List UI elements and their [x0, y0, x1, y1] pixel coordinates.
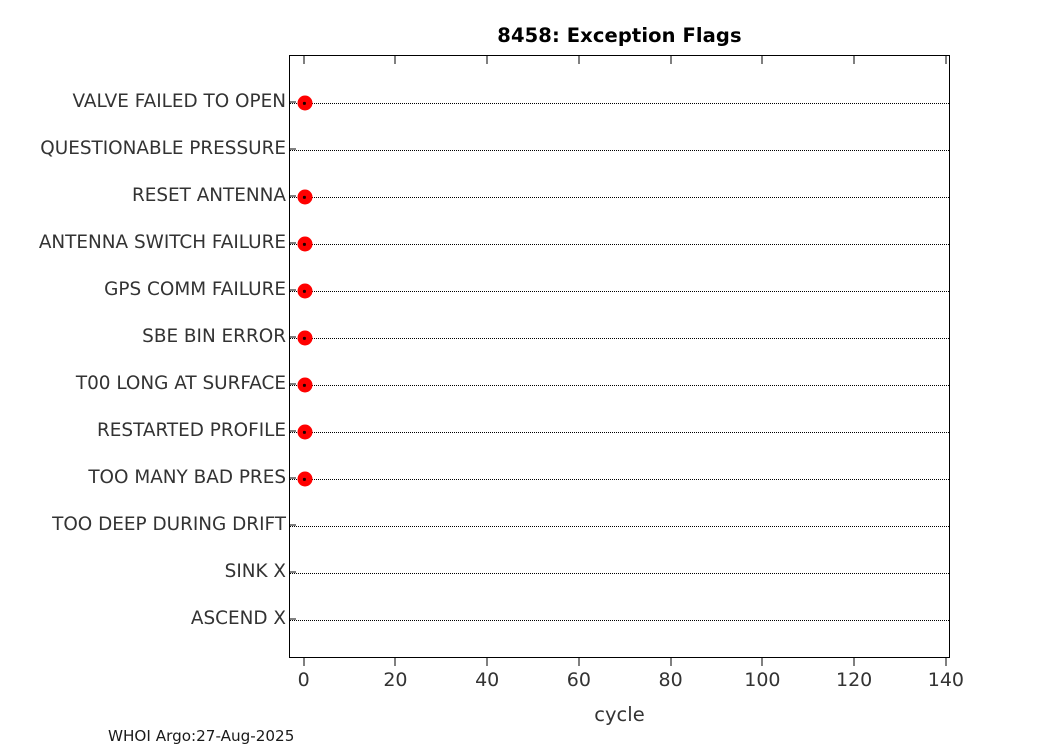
y-axis-tick-label: QUESTIONABLE PRESSURE [40, 140, 286, 158]
y-axis-tick-mark [289, 102, 296, 103]
x-axis-tick-label: 20 [383, 669, 407, 691]
data-point-marker [297, 331, 312, 346]
gridline [290, 338, 949, 339]
gridline [290, 620, 949, 621]
x-axis-tick-label: 100 [744, 669, 780, 691]
x-axis-tick-mark [395, 658, 396, 666]
y-axis-tick-label: GPS COMM FAILURE [104, 281, 286, 299]
y-axis-tick-mark [289, 572, 296, 573]
y-axis-tick-mark [289, 196, 296, 197]
gridline [290, 573, 949, 574]
y-axis-tick-mark [289, 243, 296, 244]
y-axis-tick-mark [289, 525, 296, 526]
y-axis-tick-label: ANTENNA SWITCH FAILURE [39, 234, 286, 252]
gridline [290, 385, 949, 386]
y-axis-tick-label: ASCEND X [191, 610, 286, 628]
x-axis-tick-label: 120 [836, 669, 872, 691]
x-axis-tick-label: 60 [567, 669, 591, 691]
x-axis-tick-label: 140 [928, 669, 964, 691]
y-axis-tick-mark [289, 478, 296, 479]
data-point-marker [297, 378, 312, 393]
x-axis-tick-label: 80 [659, 669, 683, 691]
footer-annotation: WHOI Argo:27-Aug-2025 [108, 727, 294, 745]
gridline [290, 103, 949, 104]
x-axis-tick-mark [670, 658, 671, 666]
x-axis-tick-label: 40 [475, 669, 499, 691]
y-axis-tick-label: TOO DEEP DURING DRIFT [52, 516, 286, 534]
data-point-marker [297, 284, 312, 299]
y-axis-tick-label: RESTARTED PROFILE [97, 422, 286, 440]
x-axis-tick-mark-top [395, 56, 396, 64]
gridline [290, 291, 949, 292]
y-axis-tick-mark [289, 431, 296, 432]
x-axis-tick-mark [945, 658, 946, 666]
y-axis-tick-label: SINK X [225, 563, 286, 581]
x-axis-tick-mark [854, 658, 855, 666]
gridline [290, 526, 949, 527]
y-axis-tick-label: VALVE FAILED TO OPEN [72, 93, 286, 111]
x-axis-tick-mark-top [854, 56, 855, 64]
y-axis-tick-mark [289, 384, 296, 385]
x-axis-tick-mark-top [303, 56, 304, 64]
page-title: 8458: Exception Flags [289, 24, 950, 47]
x-axis-tick-mark-top [578, 56, 579, 64]
gridline [290, 479, 949, 480]
x-axis-title: cycle [289, 703, 950, 726]
data-point-marker [297, 237, 312, 252]
y-axis-tick-label: RESET ANTENNA [132, 187, 286, 205]
y-axis-tick-mark [289, 337, 296, 338]
x-axis-tick-mark-top [945, 56, 946, 64]
gridline [290, 432, 949, 433]
y-axis-tick-mark [289, 149, 296, 150]
x-axis-tick-mark [487, 658, 488, 666]
x-axis-tick-mark-top [762, 56, 763, 64]
data-point-marker [297, 96, 312, 111]
gridline [290, 197, 949, 198]
y-axis-tick-label: TOO MANY BAD PRES [88, 469, 286, 487]
gridline [290, 150, 949, 151]
plot-area [289, 55, 950, 658]
x-axis-tick-mark [578, 658, 579, 666]
data-point-marker [297, 472, 312, 487]
x-axis-tick-mark-top [487, 56, 488, 64]
y-axis-tick-label: T00 LONG AT SURFACE [76, 375, 286, 393]
x-axis-tick-mark-top [670, 56, 671, 64]
y-axis-tick-mark [289, 290, 296, 291]
x-axis-tick-mark [762, 658, 763, 666]
x-axis-tick-label: 0 [298, 669, 310, 691]
figure-canvas: 8458: Exception Flags VALVE FAILED TO OP… [0, 0, 1050, 750]
data-point-marker [297, 425, 312, 440]
data-point-marker [297, 190, 312, 205]
y-axis-tick-label: SBE BIN ERROR [142, 328, 286, 346]
gridline [290, 244, 949, 245]
x-axis-tick-mark [303, 658, 304, 666]
y-axis-tick-mark [289, 619, 296, 620]
